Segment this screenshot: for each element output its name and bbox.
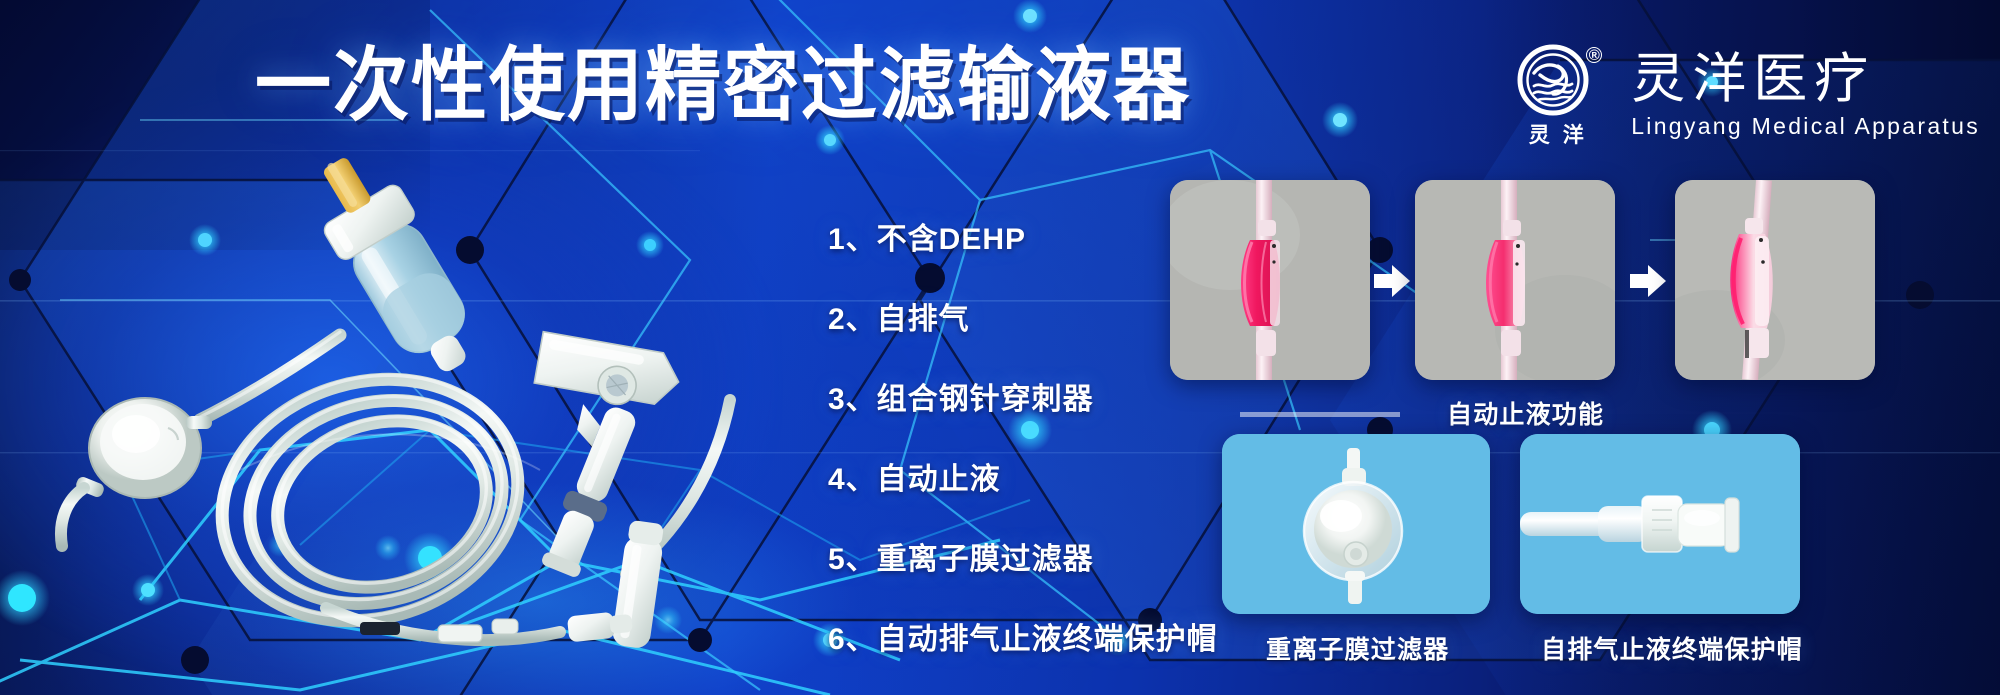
- feature-item-1: 1、不含DEHP: [828, 214, 1218, 258]
- feature-list: 1、不含DEHP 2、自排气 3、组合钢针穿刺器 4、自动止液 5、重离子膜过滤…: [828, 214, 1218, 658]
- photo-heavy-ion-membrane-filter: [1222, 434, 1490, 614]
- photo-self-venting-end-cap: [1520, 434, 1800, 614]
- brand-name-block: 灵洋医疗 Lingyang Medical Apparatus: [1631, 51, 1980, 140]
- feature-item-4: 4、自动止液: [828, 454, 1218, 498]
- photo-background-gray: [1415, 180, 1615, 380]
- photo-background-blue: [1520, 434, 1800, 614]
- photo-auto-stop-step-2: [1415, 180, 1615, 380]
- caption-auto-stop-function: 自动止液功能: [1447, 395, 1604, 431]
- brand-name-cn: 灵洋医疗: [1631, 51, 1980, 108]
- photo-auto-stop-step-1: [1170, 180, 1370, 380]
- caption-self-venting-end-cap: 自排气止液终端保护帽: [1541, 630, 1803, 666]
- product-banner: 一次性使用精密过滤输液器 ® 灵洋 灵洋医疗 Lingyang Medical …: [0, 0, 2000, 695]
- photo-background-blue: [1222, 434, 1490, 614]
- photo-background-gray: [1675, 180, 1875, 380]
- logo-mark: ® 灵洋: [1497, 43, 1615, 149]
- arrow-right-icon-2: [1628, 263, 1668, 299]
- photo-background-gray: [1170, 180, 1370, 380]
- logo-mark-label: 灵洋: [1516, 119, 1597, 149]
- feature-item-5: 5、重离子膜过滤器: [828, 534, 1218, 578]
- caption-heavy-ion-membrane-filter: 重离子膜过滤器: [1266, 630, 1449, 666]
- brand-name-en: Lingyang Medical Apparatus: [1631, 112, 1980, 141]
- brand-logo: ® 灵洋 灵洋医疗 Lingyang Medical Apparatus: [1497, 42, 1980, 150]
- wave-emblem-icon: ®: [1512, 43, 1600, 117]
- page-title: 一次性使用精密过滤输液器: [255, 46, 1191, 127]
- photo-auto-stop-step-3: [1675, 180, 1875, 380]
- feature-item-6: 6、自动排气止液终端保护帽: [828, 614, 1218, 658]
- feature-item-2: 2、自排气: [828, 294, 1218, 338]
- feature-item-3: 3、组合钢针穿刺器: [828, 374, 1218, 418]
- arrow-right-icon-1: [1372, 263, 1412, 299]
- product-photo-infusion-set: [40, 170, 840, 670]
